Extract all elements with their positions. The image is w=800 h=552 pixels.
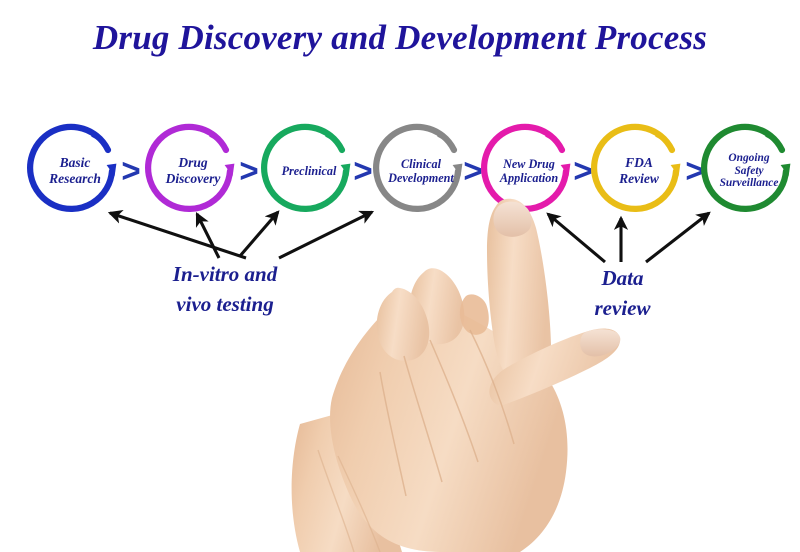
index-fingernail: [493, 202, 531, 237]
thumbnail: [580, 329, 620, 356]
hand-shape: [292, 199, 621, 552]
diagram-canvas: Drug Discovery and Development Process B…: [0, 0, 800, 552]
pointing-hand: [0, 0, 800, 552]
